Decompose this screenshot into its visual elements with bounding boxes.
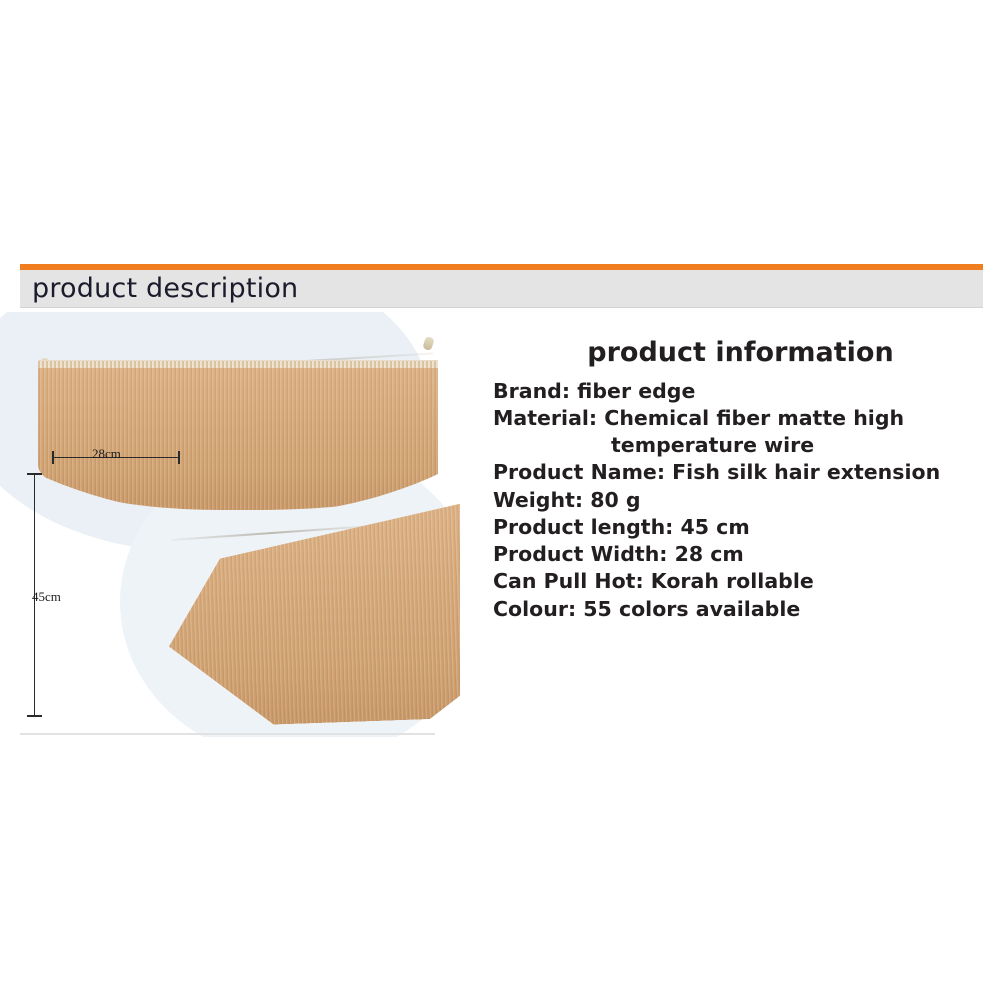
product-information-panel: product information Brand: fiber edge Ma… <box>493 338 988 623</box>
spec-material: Material: Chemical fiber matte high <box>493 405 988 432</box>
width-dimension-label: 28cm <box>92 446 121 462</box>
spec-weight: Weight: 80 g <box>493 487 988 514</box>
spec-brand: Brand: fiber edge <box>493 378 988 405</box>
spec-can-pull-hot: Can Pull Hot: Korah rollable <box>493 568 988 595</box>
length-dimension-label: 45cm <box>32 589 61 605</box>
wire-bead-upper-right <box>422 336 435 351</box>
spec-product-length: Product length: 45 cm <box>493 514 988 541</box>
photo-bottom-divider <box>20 733 435 735</box>
hair-strands-upper <box>38 360 438 510</box>
product-spec-list: Brand: fiber edge Material: Chemical fib… <box>493 378 988 623</box>
weft-seam-upper <box>38 360 438 368</box>
spec-product-name: Product Name: Fish silk hair extension <box>493 459 988 486</box>
section-header-bar: product description <box>20 270 983 308</box>
spec-material-cont: temperature wire <box>493 432 988 459</box>
product-information-title: product information <box>493 338 988 368</box>
spec-product-width: Product Width: 28 cm <box>493 541 988 568</box>
spec-colour: Colour: 55 colors available <box>493 596 988 623</box>
page-title: product description <box>32 275 298 302</box>
product-description-section-header: product description <box>20 264 983 308</box>
product-image <box>0 312 460 737</box>
hair-weft-upper <box>38 360 438 510</box>
